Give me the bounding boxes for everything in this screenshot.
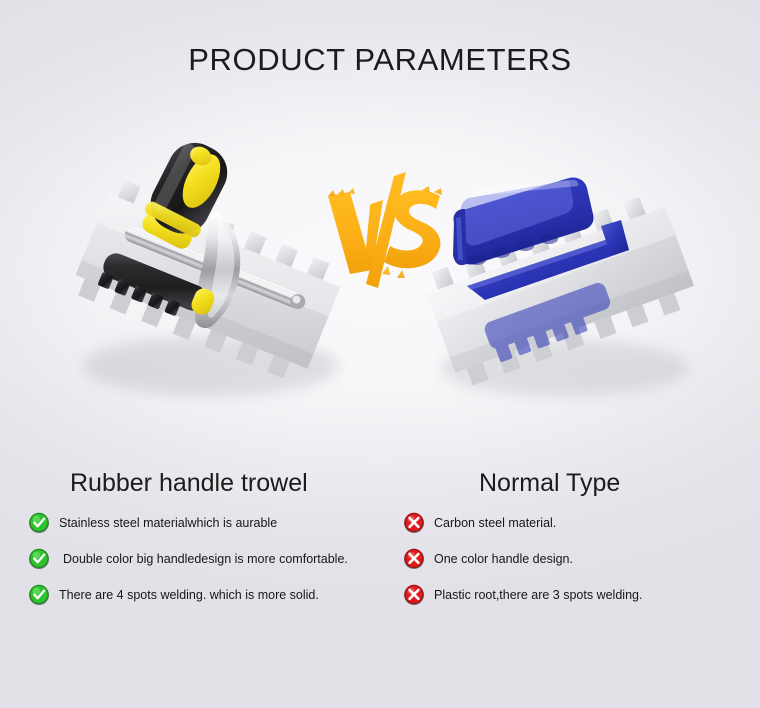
list-item: Carbon steel material. <box>403 506 748 540</box>
feature-text: One color handle design. <box>434 552 573 567</box>
page-title: PRODUCT PARAMETERS <box>0 42 760 78</box>
column-heading-right: Normal Type <box>403 462 748 504</box>
list-item: Plastic root,there are 3 spots welding. <box>403 578 748 612</box>
list-item: One color handle design. <box>403 542 748 576</box>
feature-text: Stainless steel materialwhich is aurable <box>59 516 277 531</box>
hero-product-imagery <box>0 118 760 423</box>
list-item: There are 4 spots welding. which is more… <box>28 578 398 612</box>
feature-list-right: Carbon steel material. One color handle … <box>403 506 748 612</box>
column-heading-left: Rubber handle trowel <box>28 462 398 504</box>
check-circle-icon <box>28 512 50 534</box>
feature-text: Plastic root,there are 3 spots welding. <box>434 588 642 603</box>
comparison-column-normal-type: Normal Type Carbon steel material. <box>403 462 748 612</box>
product-image-rubber-handle-trowel <box>40 118 370 423</box>
comparison-column-rubber-handle-trowel: Rubber handle trowel Stainless steel mat… <box>28 462 398 612</box>
list-item: Stainless steel materialwhich is aurable <box>28 506 398 540</box>
comparison-section: Rubber handle trowel Stainless steel mat… <box>0 462 760 642</box>
feature-text: Carbon steel material. <box>434 516 556 531</box>
check-circle-icon <box>28 584 50 606</box>
product-parameters-page: PRODUCT PARAMETERS <box>0 0 760 708</box>
feature-list-left: Stainless steel materialwhich is aurable… <box>28 506 398 612</box>
product-image-normal-type-trowel <box>415 118 735 423</box>
feature-text: There are 4 spots welding. which is more… <box>59 588 319 603</box>
cross-circle-icon <box>403 584 425 606</box>
feature-text: Double color big handledesign is more co… <box>59 552 348 567</box>
cross-circle-icon <box>403 548 425 570</box>
check-circle-icon <box>28 548 50 570</box>
list-item: Double color big handledesign is more co… <box>28 542 398 576</box>
cross-circle-icon <box>403 512 425 534</box>
